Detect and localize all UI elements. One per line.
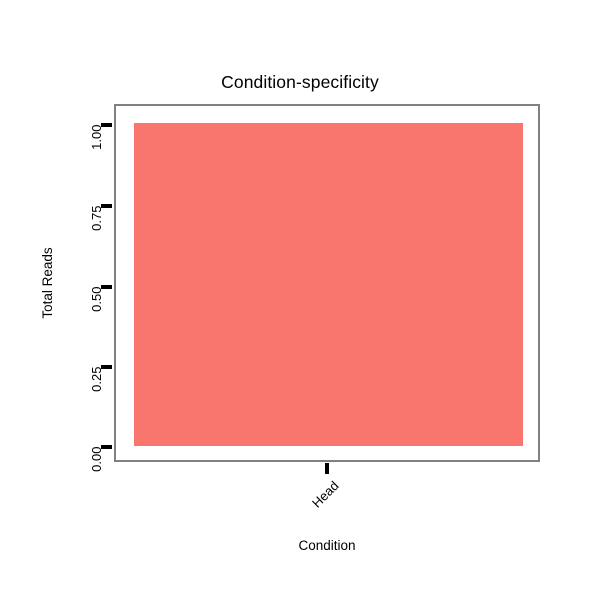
y-tick-label-text: 0.00	[89, 447, 104, 472]
y-tick-label-text: 0.75	[89, 206, 104, 231]
y-tick-label-text: 0.50	[89, 287, 104, 312]
y-axis-title: Total Reads	[40, 104, 62, 462]
chart-figure: Condition-specificity 1.000.750.500.250.…	[0, 0, 600, 600]
plot-panel	[114, 104, 540, 462]
bar-head	[134, 123, 523, 446]
x-tick-label: Head	[243, 478, 341, 576]
y-tick-label-text: 1.00	[89, 125, 104, 150]
plot-area	[116, 106, 538, 460]
y-tick-label-text: 0.25	[89, 367, 104, 392]
chart-title: Condition-specificity	[0, 72, 600, 93]
x-tick-mark	[325, 463, 329, 474]
x-axis-title: Condition	[114, 538, 540, 553]
